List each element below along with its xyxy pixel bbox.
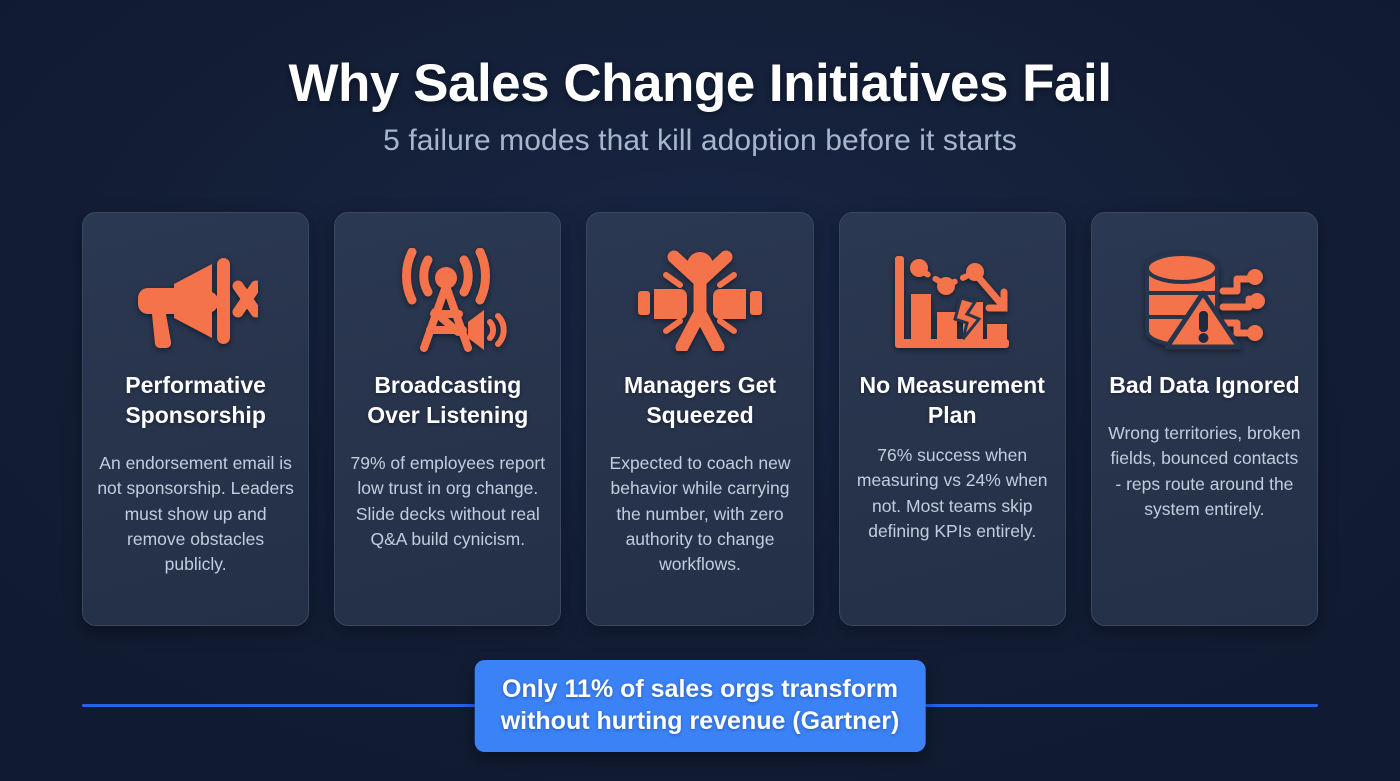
card-title: No Measurement Plan [854, 371, 1051, 431]
card-description: Expected to coach new behavior while car… [601, 451, 798, 578]
card-title: Bad Data Ignored [1109, 371, 1299, 401]
page-subtitle: 5 failure modes that kill adoption befor… [0, 124, 1400, 158]
declining-chart-icon [854, 247, 1051, 353]
person-squeezed-icon [601, 247, 798, 353]
failure-mode-cards: Performative Sponsorship An endorsement … [82, 212, 1318, 626]
failure-card-no-measurement-plan[interactable]: No Measurement Plan 76% success when mea… [839, 212, 1066, 626]
card-description: Wrong territories, broken fields, bounce… [1106, 421, 1303, 523]
stat-banner-line-1: Only 11% of sales orgs transform [501, 673, 900, 705]
page-title: Why Sales Change Initiatives Fail [0, 55, 1400, 112]
card-description: 79% of employees report low trust in org… [349, 451, 546, 553]
footer-stat-section: Only 11% of sales orgs transform without… [0, 660, 1400, 750]
card-description: 76% success when measuring vs 24% when n… [854, 443, 1051, 545]
megaphone-muted-icon [97, 247, 294, 353]
card-title: Performative Sponsorship [97, 371, 294, 431]
card-title: Broadcasting Over Listening [349, 371, 546, 431]
broadcast-tower-icon [349, 247, 546, 353]
card-title: Managers Get Squeezed [601, 371, 798, 431]
database-warning-icon [1106, 247, 1303, 353]
failure-card-broadcasting-over-listening[interactable]: Broadcasting Over Listening 79% of emplo… [334, 212, 561, 626]
page-header: Why Sales Change Initiatives Fail 5 fail… [0, 0, 1400, 158]
failure-card-bad-data-ignored[interactable]: Bad Data Ignored Wrong territories, brok… [1091, 212, 1318, 626]
failure-card-managers-get-squeezed[interactable]: Managers Get Squeezed Expected to coach … [586, 212, 813, 626]
stat-banner: Only 11% of sales orgs transform without… [475, 660, 926, 752]
stat-banner-line-2: without hurting revenue (Gartner) [501, 705, 900, 737]
card-description: An endorsement email is not sponsorship.… [97, 451, 294, 578]
failure-card-performative-sponsorship[interactable]: Performative Sponsorship An endorsement … [82, 212, 309, 626]
